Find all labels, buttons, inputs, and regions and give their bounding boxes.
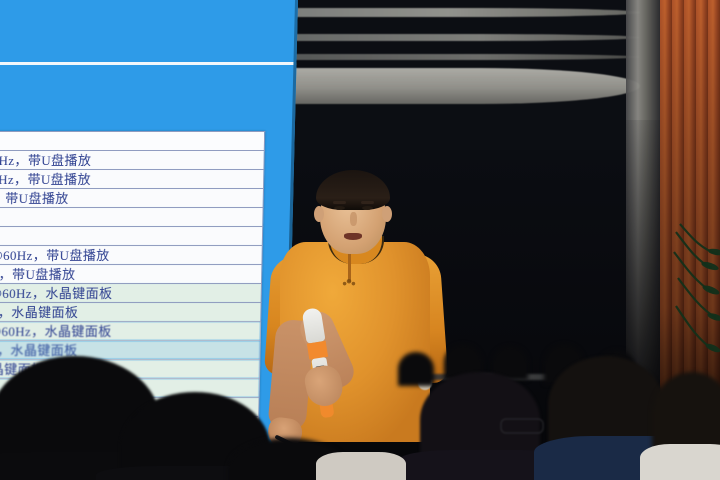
audience-head xyxy=(398,352,434,386)
table-cell xyxy=(0,227,263,246)
table-cell: 素@60Hz，水晶键面板 xyxy=(0,303,261,322)
presenter-eyebrow-left xyxy=(333,201,346,204)
table-row xyxy=(0,208,263,227)
screen-divider-line xyxy=(0,62,296,65)
audience-shoulders xyxy=(316,452,406,480)
audience-shoulders xyxy=(640,444,720,480)
table-row: 像素@60Hz，带U盘播放 xyxy=(0,170,264,189)
presenter-hair xyxy=(316,170,390,210)
slide-table-header: 明 xyxy=(0,132,265,151)
presenter-mouth xyxy=(344,233,362,240)
table-cell: 0万像素@60Hz，水晶键面板 xyxy=(0,322,261,341)
presenter-ear-right xyxy=(382,206,392,222)
table-row: 素@60Hz，水晶键面板 xyxy=(0,341,260,360)
presenter-ear-left xyxy=(314,206,324,222)
table-row: 0万像素@60Hz，水晶键面板 xyxy=(0,284,262,303)
table-row: 0万像素@60Hz，水晶键面板 xyxy=(0,322,261,341)
table-cell: 0万像素@60Hz，水晶键面板 xyxy=(0,284,262,303)
table-cell: 像素@60Hz，带U盘播放 xyxy=(0,170,264,189)
table-row: 0万像素，带U盘播放 xyxy=(0,189,263,208)
presenter-nose xyxy=(350,212,357,226)
table-row: 0万像素@60Hz，带U盘播放 xyxy=(0,246,262,265)
presenter-eyebrow-right xyxy=(361,201,374,204)
table-row xyxy=(0,227,263,246)
table-row: 素@60Hz，水晶键面板 xyxy=(0,303,261,322)
audience-glasses-icon xyxy=(500,418,544,434)
table-cell: 像素@60Hz，带U盘播放 xyxy=(0,151,264,170)
table-cell: 0万像素，带U盘播放 xyxy=(0,189,263,208)
shirt-logo xyxy=(338,274,360,290)
table-cell: 素@60Hz，带U盘播放 xyxy=(0,265,262,284)
table-cell: 0万像素@60Hz，带U盘播放 xyxy=(0,246,262,265)
table-row: 像素@60Hz，带U盘播放 xyxy=(0,151,264,170)
conference-photo-scene: 明像素@60Hz，带U盘播放像素@60Hz，带U盘播放0万像素，带U盘播放0万像… xyxy=(0,0,720,480)
table-row: 素@60Hz，带U盘播放 xyxy=(0,265,262,284)
presenter-eye-right xyxy=(362,206,373,210)
table-cell xyxy=(0,208,263,227)
table-cell: 素@60Hz，水晶键面板 xyxy=(0,341,260,360)
presenter-eye-left xyxy=(334,206,345,210)
plant-icon xyxy=(672,222,720,372)
metal-pilaster xyxy=(626,0,660,400)
